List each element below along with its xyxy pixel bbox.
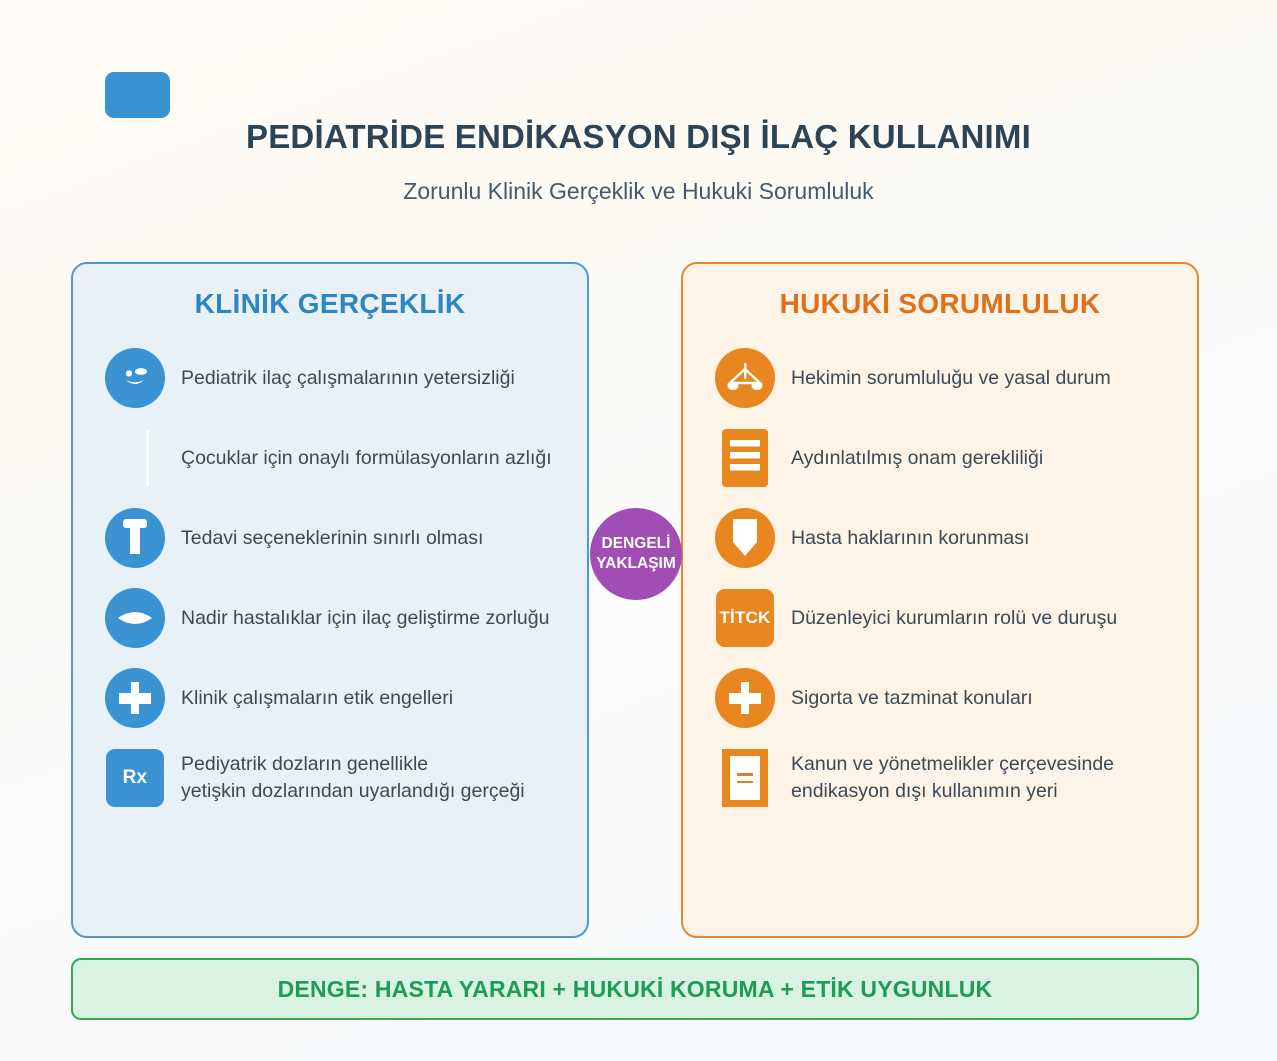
list-item-label: Çocuklar için onaylı formülasyonların az… <box>181 445 552 472</box>
list-item: Klinik çalışmaların etik engelleri <box>105 658 665 738</box>
shield-icon <box>715 508 775 568</box>
list-item: TİTCK Düzenleyici kurumların rolü ve dur… <box>715 578 1275 658</box>
pill-bottle-icon <box>105 508 165 568</box>
balance-scale-icon <box>715 348 775 408</box>
list-item-label: Pediatrik ilaç çalışmalarının yetersizli… <box>181 365 515 392</box>
list-item: Çocuklar için onaylı formülasyonların az… <box>105 418 665 498</box>
list-item: Hekimin sorumluluğu ve yasal durum <box>715 338 1275 418</box>
list-item-label: Düzenleyici kurumların rolü ve duruşu <box>791 605 1117 632</box>
list-item-label: Nadir hastalıklar için ilaç geliştirme z… <box>181 605 549 632</box>
list-item-label: Sigorta ve tazminat konuları <box>791 685 1033 712</box>
list-item-label: Hasta haklarının korunması <box>791 525 1029 552</box>
list-item: Aydınlatılmış onam gerekliliği <box>715 418 1275 498</box>
page-title: PEDİATRİDE ENDİKASYON DIŞI İLAÇ KULLANIM… <box>0 118 1277 156</box>
list-item-label: Tedavi seçeneklerinin sınırlı olması <box>181 525 483 552</box>
panel-legal-title: HUKUKİ SORUMLULUK <box>683 288 1197 320</box>
list-item: Pediatrik ilaç çalışmalarının yetersizli… <box>105 338 665 418</box>
titck-badge-icon: TİTCK <box>715 588 775 648</box>
rx-badge-icon: Rx <box>105 748 165 808</box>
list-item: Rx Pediyatrik dozların genellikle yetişk… <box>105 738 665 818</box>
medical-cross-icon <box>715 668 775 728</box>
panel-clinical-title: KLİNİK GERÇEKLİK <box>73 288 587 320</box>
list-item: Kanun ve yönetmelikler çerçevesinde endi… <box>715 738 1275 818</box>
balanced-approach-line2: YAKLAŞIM <box>596 554 676 574</box>
balance-summary-banner: DENGE: HASTA YARARI + HUKUKİ KORUMA + ET… <box>71 958 1199 1020</box>
eye-lens-icon <box>105 588 165 648</box>
list-item: Hasta haklarının korunması <box>715 498 1275 578</box>
panel-clinical-reality: KLİNİK GERÇEKLİK Pediatrik ilaç çalışmal… <box>71 262 589 938</box>
logo-mark-icon <box>105 72 170 118</box>
balanced-approach-badge: DENGELİ YAKLAŞIM <box>590 508 682 600</box>
list-item-label: Klinik çalışmaların etik engelleri <box>181 685 453 712</box>
panel-legal-responsibility: HUKUKİ SORUMLULUK Hekimin sorumluluğu ve… <box>681 262 1199 938</box>
list-item-label: Kanun ve yönetmelikler çerçevesinde endi… <box>791 751 1114 805</box>
list-item-label: Pediyatrik dozların genellikle yetişkin … <box>181 751 525 805</box>
balanced-approach-line1: DENGELİ <box>602 534 671 554</box>
page-subtitle: Zorunlu Klinik Gerçeklik ve Hukuki Sorum… <box>0 178 1277 205</box>
legal-item-list: Hekimin sorumluluğu ve yasal durum Aydın… <box>715 338 1275 818</box>
law-document-icon <box>715 748 775 808</box>
infographic-header: PEDİATRİDE ENDİKASYON DIŞI İLAÇ KULLANIM… <box>0 0 1277 250</box>
list-item: Sigorta ve tazminat konuları <box>715 658 1275 738</box>
list-item: Nadir hastalıklar için ilaç geliştirme z… <box>105 578 665 658</box>
list-item-label: Hekimin sorumluluğu ve yasal durum <box>791 365 1111 392</box>
list-item-label: Aydınlatılmış onam gerekliliği <box>791 445 1043 472</box>
titck-badge-label: TİTCK <box>719 608 770 628</box>
baby-face-icon <box>105 348 165 408</box>
list-item: Tedavi seçeneklerinin sınırlı olması <box>105 498 665 578</box>
rx-badge-label: Rx <box>123 767 148 789</box>
document-lines-icon <box>715 428 775 488</box>
blank-stroke-icon <box>105 428 165 488</box>
clinical-item-list: Pediatrik ilaç çalışmalarının yetersizli… <box>105 338 665 818</box>
balance-summary-text: DENGE: HASTA YARARI + HUKUKİ KORUMA + ET… <box>278 976 993 1003</box>
medical-cross-icon <box>105 668 165 728</box>
